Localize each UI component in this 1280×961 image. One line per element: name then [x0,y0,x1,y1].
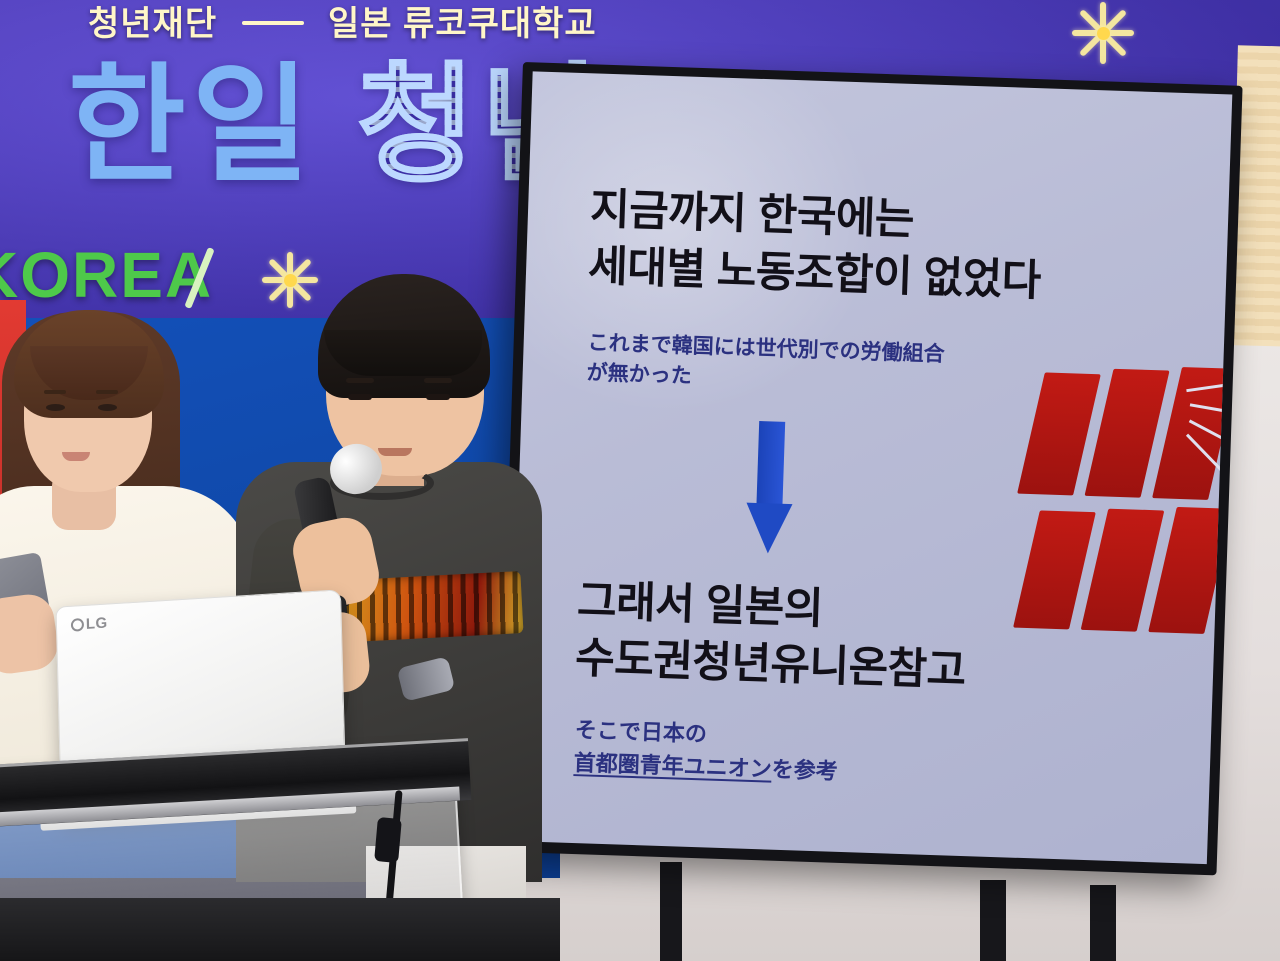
banner-korea-label: KOREA [0,238,213,312]
person-center-fringe [324,330,482,376]
star-icon [1072,2,1134,64]
person-left-eyebrow [96,390,118,394]
banner-org-left: 청년재단 [88,5,217,43]
tv-stand-leg [1090,885,1116,961]
banner-dash-divider [242,21,304,25]
banner-headline-solid: 한일 [68,54,316,197]
banner-org-right: 일본 류코쿠대학교 [328,5,597,43]
person-center-eyebrow [346,378,374,383]
photo-scene: 청년재단 일본 류코쿠대학교 한일 청년 KOREA 지금까지 한국에는 세대별… [0,0,1280,961]
banner-top-line: 청년재단 일본 류코쿠대학교 [88,0,597,45]
tv-stand-leg [980,880,1006,961]
slide-subtitle2-underlined: 首都圏青年ユニオン [573,750,772,782]
slide-subtitle2-tail: を参考 [771,757,838,784]
person-center-eyebrow [424,378,452,383]
slide-subtitle-secondary: そこで日本の 首都圏青年ユニオンを参考 [573,713,1015,794]
person-center-eye [426,394,450,400]
down-arrow-icon [745,421,795,554]
person-center-mouth [378,448,412,456]
cable-connector [374,817,402,863]
tv-stand-leg [660,862,682,961]
person-left-eye [98,404,117,411]
person-center-eye [348,394,372,400]
red-organization-logo [1020,364,1232,642]
person-left-eye [46,404,65,411]
person-left-eyebrow [44,390,66,394]
presentation-display: 지금까지 한국에는 세대별 노동조합이 없었다 これまで韓国には世代別での労働組… [497,62,1243,875]
laptop-brand-logo: LG [71,615,108,634]
floor [0,898,560,961]
slide-canvas: 지금까지 한국에는 세대별 노동조합이 없었다 これまで韓国には世代別での労働組… [507,71,1232,864]
slide-heading-primary: 지금까지 한국에는 세대별 노동조합이 없었다 [587,181,1190,314]
star-icon [262,252,318,308]
